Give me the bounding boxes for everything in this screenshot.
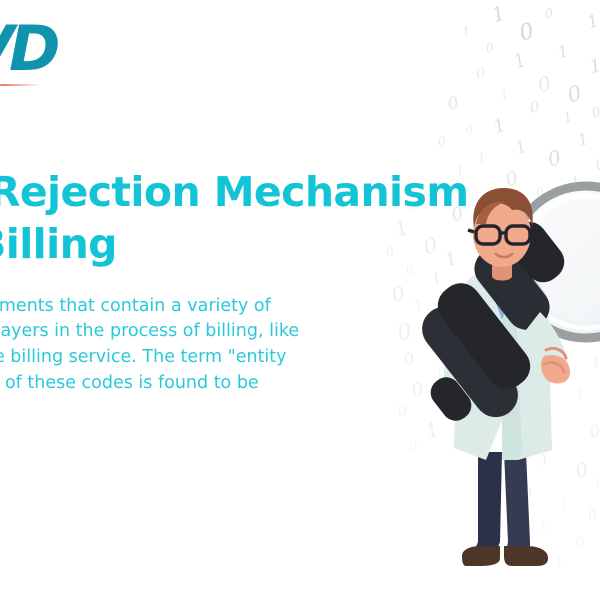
binary-digit: 1 [576,131,591,149]
binary-digit: 1 [511,50,529,72]
binary-digit: 0 [437,135,448,149]
page-title: e Rejection Mechanism l Billing [0,167,508,270]
binary-digit: 0 [517,20,537,45]
binary-digit: 0 [446,95,461,114]
binary-digit: 1 [562,111,574,126]
binary-digit: 1 [588,57,600,77]
shoes [462,546,548,566]
binary-digit: 0 [402,351,417,370]
binary-digit: 0 [529,99,541,116]
binary-digit: 0 [397,403,409,419]
binary-digit: 1 [491,117,508,138]
binary-digit: 0 [475,65,487,82]
binary-digit: 1 [556,43,571,61]
logo-mark-text: VD [0,18,96,80]
binary-digit: 1 [477,151,487,164]
binary-digit: 1 [489,3,507,26]
binary-digit: 1 [498,87,510,103]
brand-logo[interactable]: VD [0,18,96,86]
binary-digit: 1 [585,13,600,33]
binary-digit: 0 [485,41,495,54]
binary-digit: 0 [565,83,584,107]
binary-digit: 0 [546,147,563,169]
binary-digit: 1 [461,25,472,39]
binary-digit: 0 [590,105,600,121]
legs [474,452,530,552]
binary-digit: 0 [544,7,555,22]
slide-canvas: 1010101110001000110101010101001001010010… [0,0,600,600]
binary-digit: 0 [594,157,600,174]
binary-digit: 0 [465,123,474,135]
body-paragraph: plex documents that contain a variety of… [0,294,404,398]
binary-digit: 1 [513,139,529,159]
binary-digit: 0 [535,73,553,96]
